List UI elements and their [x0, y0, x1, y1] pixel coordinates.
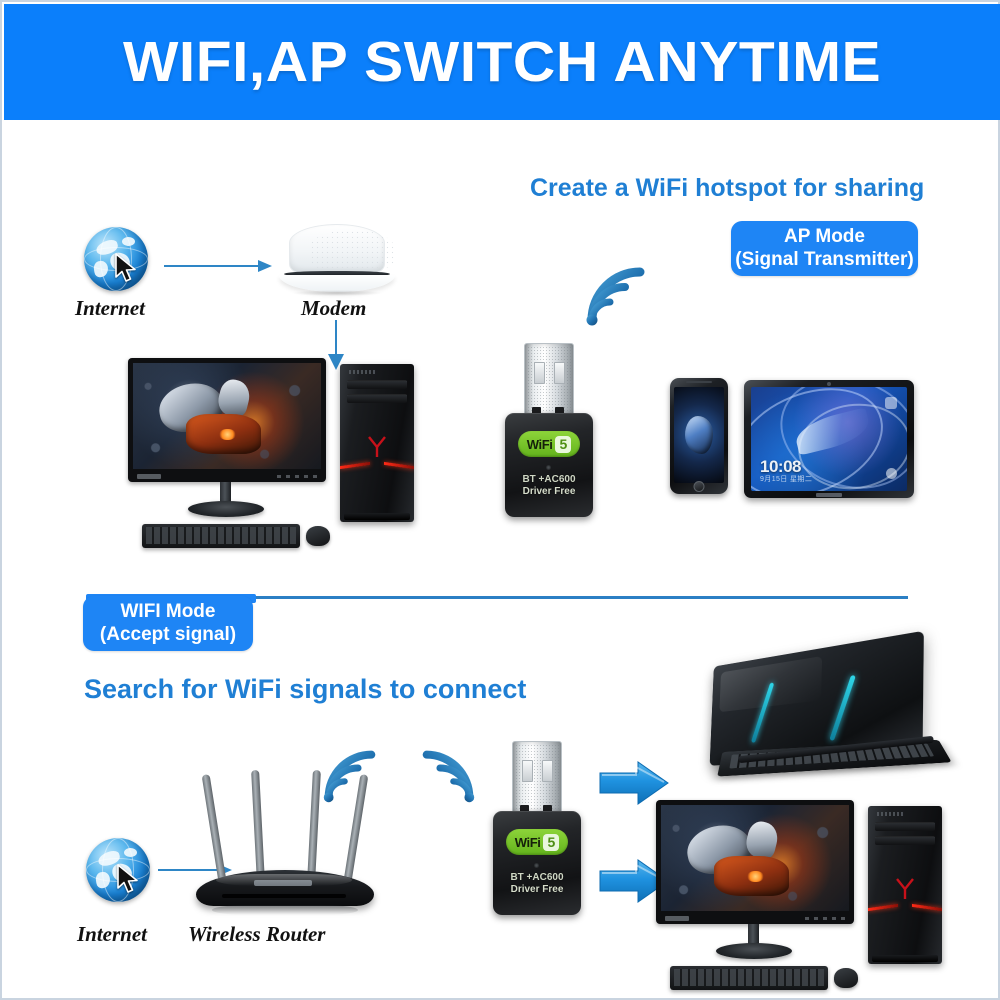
tablet-device: 10:08 9月15日 星期二: [744, 380, 914, 498]
keyboard-keys: [674, 969, 824, 986]
adapter-spec-text: BT +AC600 Driver Free: [493, 872, 581, 896]
monitor-buttons: [277, 475, 317, 478]
tower-base: [872, 955, 938, 962]
tower-vent: [877, 812, 903, 816]
ap-mode-badge-line2: (Signal Transmitter): [735, 249, 913, 271]
smartphone-device: [670, 378, 728, 494]
monitor-stand-base: [716, 943, 792, 959]
mouse-device: [306, 526, 330, 546]
mouse-device: [834, 968, 858, 988]
router-brand-logo: [254, 880, 312, 886]
gaming-laptop-device: [678, 650, 968, 790]
modem-device: [275, 224, 399, 296]
tower-drive-bay: [347, 380, 407, 389]
header-banner: WIFI,AP SWITCH ANYTIME: [4, 4, 1000, 120]
arrow-head: [258, 260, 272, 272]
usb-pin: [522, 760, 533, 782]
tablet-widget-icon: [886, 468, 897, 479]
adapter-spec-line1: BT +AC600: [505, 474, 593, 486]
phone-earpiece: [686, 381, 712, 383]
tower-accent-light: [912, 904, 942, 911]
ap-section-heading: Create a WiFi hotspot for sharing: [530, 174, 924, 203]
adapter-spec-line2: Driver Free: [493, 884, 581, 896]
modem-label: Modem: [301, 296, 366, 321]
monitor-logo: [665, 916, 689, 921]
wifi5-badge-version: 5: [555, 436, 571, 453]
monitor-screen: [133, 363, 321, 469]
phone-home-button: [694, 481, 705, 492]
arrow-shaft: [335, 320, 337, 356]
adapter-spec-text: BT +AC600 Driver Free: [505, 474, 593, 498]
monitor-stand-base: [188, 501, 264, 517]
usb-wifi-adapter-bottom: WiFi 5 BT +AC600 Driver Free: [493, 741, 581, 917]
wifi5-badge: WiFi 5: [506, 829, 568, 855]
wifi-mode-badge-line1: WIFI Mode: [121, 601, 216, 623]
keyboard: [670, 966, 828, 990]
laptop-accent-stripe: [829, 675, 856, 741]
router-antenna: [251, 770, 265, 882]
tower-accent-light: [384, 462, 414, 469]
tower-accent-light: [340, 462, 370, 469]
phone-wallpaper-droplet: [685, 416, 713, 454]
adapter-led: [546, 465, 551, 470]
wifi-signal-icon-ap: [580, 260, 652, 337]
keyboard-keys: [146, 527, 296, 544]
adapter-spec-line2: Driver Free: [505, 486, 593, 498]
tablet-camera: [827, 382, 831, 386]
monitor: [656, 800, 854, 924]
tablet-brand-logo: [816, 493, 842, 497]
tower-base: [344, 513, 410, 520]
tower-drive-bay: [875, 836, 935, 845]
pc-tower: [340, 364, 414, 522]
tablet-clock-date: 9月15日 星期二: [760, 474, 812, 484]
tablet-widget-icon: [885, 397, 897, 409]
adapter-led: [534, 863, 539, 868]
usb-pin: [534, 362, 545, 384]
monitor: [128, 358, 326, 482]
internet-globe-icon-bottom: [86, 838, 150, 902]
router-antenna: [202, 774, 227, 882]
wifi5-badge: WiFi 5: [518, 431, 580, 457]
wifi-section-heading: Search for WiFi signals to connect: [84, 674, 526, 705]
internet-label-top: Internet: [75, 296, 145, 321]
arrow-shaft: [164, 265, 260, 267]
usb-connector: [512, 741, 562, 813]
pc-tower: [868, 806, 942, 964]
usb-wifi-adapter-top: WiFi 5 BT +AC600 Driver Free: [505, 343, 593, 519]
keyboard: [142, 524, 300, 548]
arrow-internet-to-modem: [164, 260, 276, 272]
ap-mode-badge: AP Mode (Signal Transmitter): [731, 221, 918, 276]
tower-drive-bay: [875, 822, 935, 831]
tower-logo-icon: [368, 436, 386, 458]
monitor-screen: [661, 805, 849, 911]
router-slot: [222, 894, 346, 898]
ap-mode-badge-line1: AP Mode: [784, 226, 865, 248]
modem-top: [289, 224, 385, 274]
monitor-buttons: [805, 917, 845, 920]
wifi-signal-icon-left: [318, 744, 382, 813]
phone-screen: [674, 387, 724, 483]
wifi-signal-icon-right: [416, 744, 480, 813]
wifi5-badge-text: WiFi: [515, 835, 541, 850]
tablet-clock: 10:08: [760, 458, 801, 475]
router-reflection: [212, 905, 358, 915]
tower-drive-bay: [347, 394, 407, 403]
monitor-logo: [137, 474, 161, 479]
wireless-router-label: Wireless Router: [188, 922, 325, 947]
wifi5-badge-text: WiFi: [527, 437, 553, 452]
wifi-mode-badge-line2: (Accept signal): [100, 624, 236, 646]
usb-pin: [542, 760, 553, 782]
wifi-mode-badge: WIFI Mode (Accept signal): [83, 596, 253, 651]
usb-connector: [524, 343, 574, 415]
internet-label-bottom: Internet: [77, 922, 147, 947]
wifi5-badge-version: 5: [543, 834, 559, 851]
banner-title: WIFI,AP SWITCH ANYTIME: [123, 29, 881, 95]
adapter-spec-line1: BT +AC600: [493, 872, 581, 884]
internet-globe-icon: [84, 227, 148, 291]
tablet-screen: 10:08 9月15日 星期二: [751, 387, 907, 491]
tower-accent-light: [868, 904, 898, 911]
tower-logo-icon: [896, 878, 914, 900]
modem-mesh: [310, 230, 394, 268]
tower-vent: [349, 370, 375, 374]
infographic-page: WIFI,AP SWITCH ANYTIME Create a WiFi hot…: [0, 0, 1000, 1000]
usb-pin: [554, 362, 565, 384]
